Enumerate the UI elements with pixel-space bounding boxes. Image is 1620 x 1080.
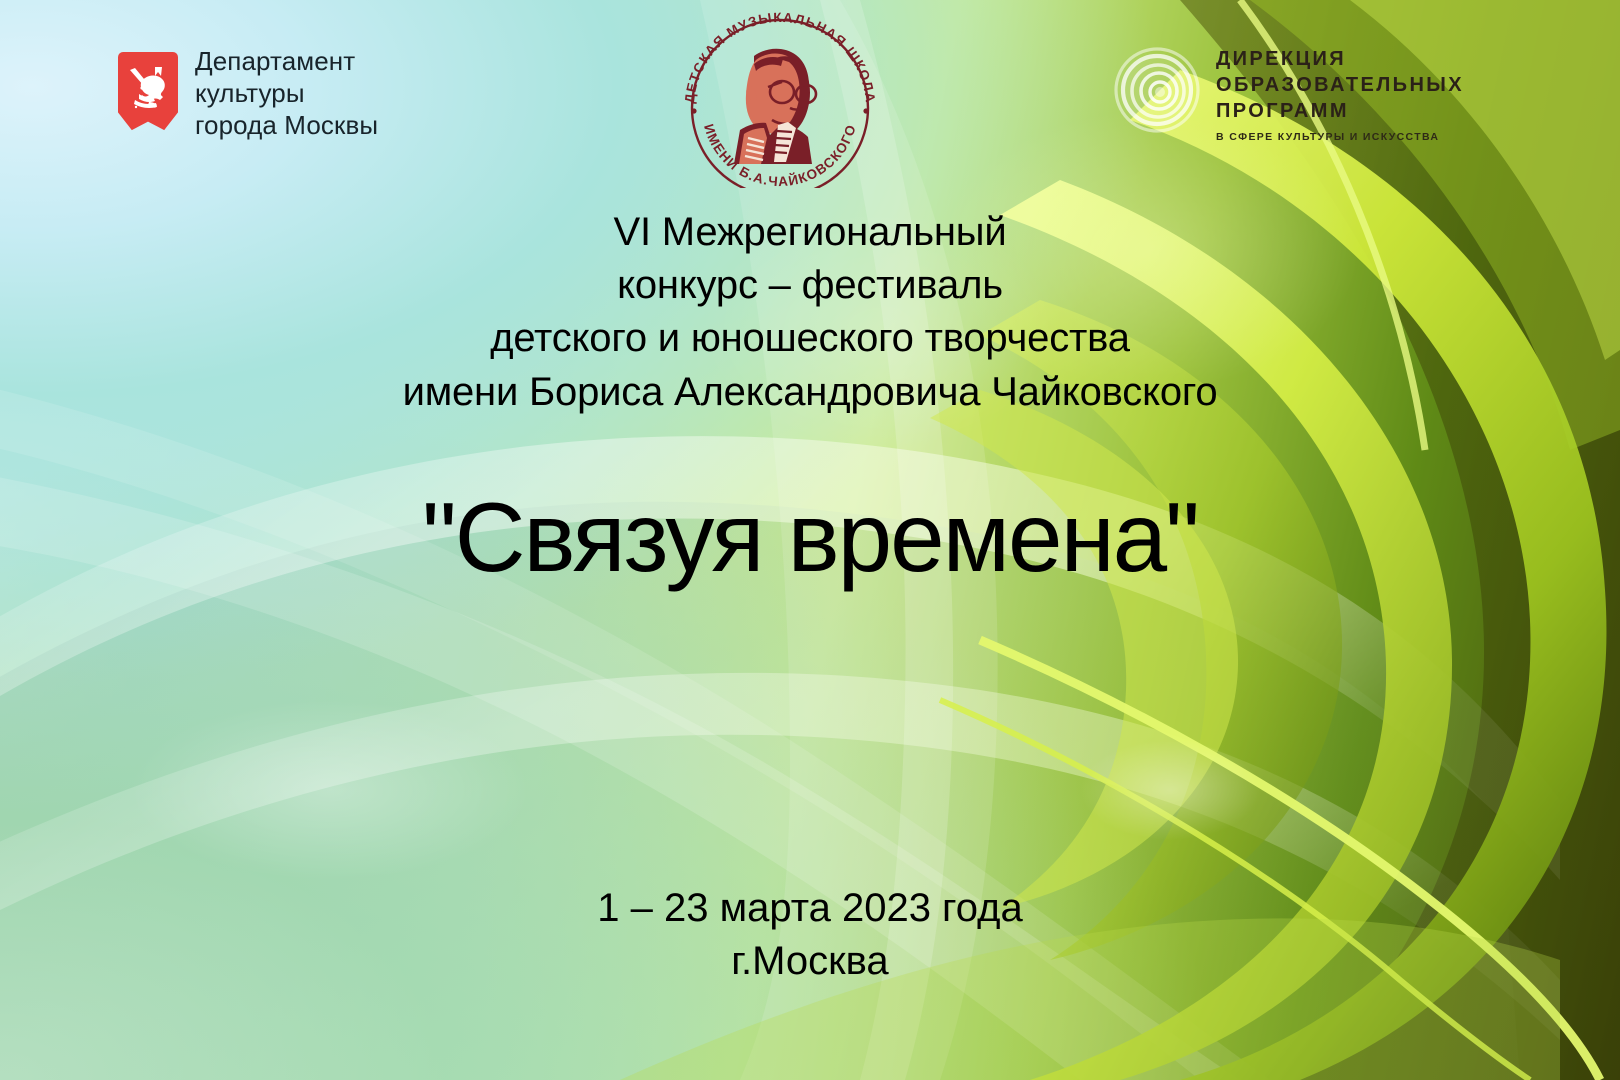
festival-title: "Связуя времена" [0,488,1620,586]
headline-line-1: VI Межрегиональный [0,206,1620,259]
headline-line-2: конкурс – фестиваль [0,259,1620,312]
directorate-line-2: ОБРАЗОВАТЕЛЬНЫХ [1216,72,1464,98]
concentric-rings-svg [1112,44,1202,136]
moscow-department-text: Департамент культуры города Москвы [195,46,378,142]
headline-line-4: имени Бориса Александровича Чайковского [0,366,1620,419]
directorate-text: ДИРЕКЦИЯ ОБРАЗОВАТЕЛЬНЫХ ПРОГРАММ В СФЕР… [1216,42,1464,143]
event-footer: 1 – 23 марта 2023 года г.Москва [0,882,1620,988]
logo-directorate-of-educational-programs: ДИРЕКЦИЯ ОБРАЗОВАТЕЛЬНЫХ ПРОГРАММ В СФЕР… [1112,42,1464,143]
tchaikovsky-portrait-emblem-icon: ДЕТСКАЯ МУЗЫКАЛЬНАЯ ШКОЛА ИМЕНИ Б.А.ЧАЙК… [672,8,888,188]
moscow-coat-of-arms-shield-icon [118,52,178,136]
event-dates: 1 – 23 марта 2023 года [0,882,1620,935]
logo-moscow-department-of-culture: Департамент культуры города Москвы [118,46,378,142]
poster-canvas: Департамент культуры города Москвы ДЕТСК… [0,0,1620,1080]
directorate-subtitle: В СФЕРЕ КУЛЬТУРЫ И ИСКУССТВА [1216,131,1464,143]
headline-line-3: детского и юношеского творчества [0,312,1620,365]
event-headline: VI Межрегиональный конкурс – фестиваль д… [0,206,1620,419]
moscow-line-2: культуры [195,78,378,110]
event-city: г.Москва [0,935,1620,988]
saint-george-rider-icon [125,64,171,114]
concentric-rings-icon [1112,44,1202,136]
logo-tchaikovsky-music-school: ДЕТСКАЯ МУЗЫКАЛЬНАЯ ШКОЛА ИМЕНИ Б.А.ЧАЙК… [672,8,888,188]
moscow-line-3: города Москвы [195,110,378,142]
directorate-line-1: ДИРЕКЦИЯ [1216,46,1464,72]
directorate-line-3: ПРОГРАММ [1216,98,1464,124]
moscow-line-1: Департамент [195,46,378,78]
